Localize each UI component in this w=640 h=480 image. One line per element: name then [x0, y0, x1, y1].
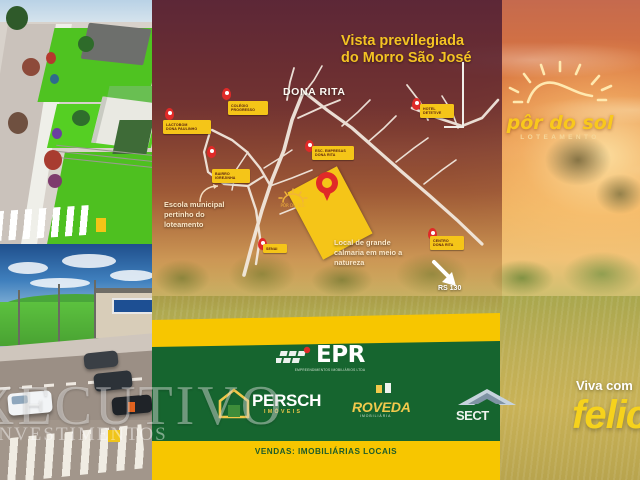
map-pill-2[interactable]: COLÉGIO PROGRESSO	[228, 101, 268, 115]
street-signboard	[112, 298, 152, 314]
street-cone	[128, 402, 135, 412]
partner-roveda-subtitle: IMOBILIÁRIA	[360, 414, 391, 418]
partner-persch-name: PERSCH	[252, 391, 321, 411]
cloud	[30, 278, 90, 288]
street-marker-box	[108, 430, 120, 442]
aerial-tree	[50, 74, 59, 84]
map-pill-6[interactable]: SENAI	[263, 244, 287, 253]
developer-tagline: EMPREENDIMENTOS IMOBILIÁRIOS LTDA	[278, 368, 382, 372]
map-pill-7[interactable]: CENTRO DONA RITA	[430, 236, 464, 250]
headline-line-1: Vista previlegiada	[341, 33, 501, 50]
house-icon	[218, 387, 250, 419]
street-van	[7, 390, 53, 416]
map-pin-icon-3[interactable]	[207, 146, 216, 158]
aerial-tree	[46, 52, 56, 64]
roof-icon	[456, 387, 518, 409]
sunrise-logo-icon	[500, 56, 620, 112]
tagline-small: Viva com	[576, 378, 633, 393]
map-city-label: DONA RITA	[283, 86, 346, 98]
aerial-tree	[48, 174, 62, 188]
aerial-tree	[78, 36, 94, 52]
partner-sect-name: SECT	[456, 408, 489, 423]
highway-label: RS 130	[438, 285, 461, 292]
partner-roveda[interactable]: ROVEDA IMOBILIÁRIA	[352, 389, 442, 421]
roveda-mark-icon	[374, 383, 394, 397]
note-school: Escola municipal pertinho do loteamento	[164, 200, 238, 230]
plot-sun-logo-icon: PÔR DO SOL	[276, 186, 310, 208]
aerial-tree	[72, 110, 90, 126]
partner-persch[interactable]: PERSCH IMÓVEIS	[218, 387, 328, 421]
headline-line-2: do Morro São José	[341, 50, 501, 67]
partner-persch-subtitle: IMÓVEIS	[264, 409, 302, 415]
brand-subtitle: LOTEAMENTO	[500, 134, 620, 141]
aerial-tree	[22, 58, 40, 76]
page-title: Vista previlegiada do Morro São José	[341, 33, 501, 67]
partner-roveda-name: ROVEDA	[352, 399, 411, 415]
aerial-tree	[6, 6, 28, 30]
aerial-marker-box	[96, 218, 106, 232]
tagline-large: felicid	[572, 393, 640, 438]
map-pill-1[interactable]: LACTOBOM DONA PAULINHO	[163, 120, 211, 134]
map-pill-3[interactable]: BAIRRO IGREJINHA	[212, 169, 250, 183]
cloud	[110, 270, 152, 281]
partner-logos: PERSCH IMÓVEIS ROVEDA IMOBILIÁRIA SECT	[160, 385, 492, 429]
note-school-arrow-icon	[196, 182, 222, 204]
aerial-tree	[52, 128, 62, 139]
poster-root: Vista previlegiada do Morro São José DON…	[0, 0, 640, 480]
cloud	[8, 262, 48, 274]
svg-text:PÔR DO SOL: PÔR DO SOL	[280, 203, 306, 208]
render-column	[0, 0, 152, 480]
headline-leader-line	[462, 62, 464, 128]
cloud	[62, 254, 116, 268]
map-pin-icon-2[interactable]	[222, 88, 231, 100]
map-grid-icon	[276, 346, 316, 368]
developer-logo: EPR EMPREENDIMENTOS IMOBILIÁRIOS LTDA	[272, 340, 382, 374]
note-nature: Local de grande calmaria em meio a natur…	[334, 238, 418, 268]
sales-line: VENDAS: IMOBILIÁRIAS LOCAIS	[152, 447, 500, 456]
map-pill-5[interactable]: ESC. EMPRESAS DONA RITA	[312, 146, 354, 160]
development-location-pin-icon[interactable]	[316, 172, 338, 202]
aerial-building-3	[112, 120, 152, 154]
aerial-render	[0, 0, 152, 244]
aerial-tree	[8, 112, 28, 134]
developer-name: EPR	[316, 342, 365, 368]
map-pin-icon-1[interactable]	[165, 108, 174, 120]
red-pin-dot	[304, 347, 310, 353]
map-pill-4[interactable]: HOTEL DETETIVE	[420, 104, 454, 118]
brand-logo: pôr do sol LOTEAMENTO	[500, 56, 620, 152]
aerial-tree	[44, 150, 62, 170]
partner-sect[interactable]: SECT	[450, 387, 526, 423]
brand-name: pôr do sol	[500, 112, 620, 134]
street-render	[0, 244, 152, 480]
